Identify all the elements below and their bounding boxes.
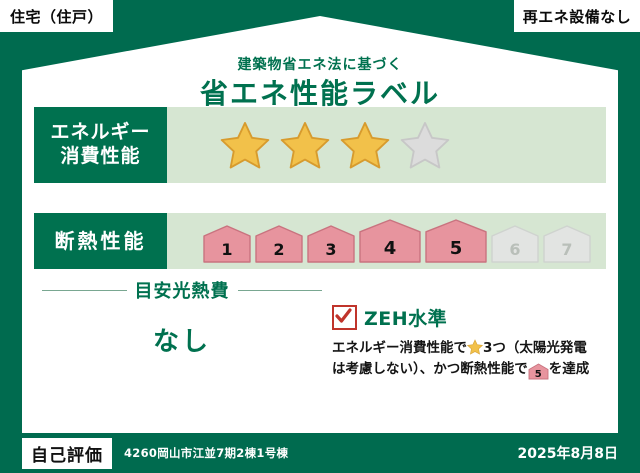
label-subtitle: 建築物省エネ法に基づく <box>22 54 618 74</box>
insulation-performance-label: 断熱性能 <box>34 213 167 269</box>
insulation-level-5: 5 <box>424 218 488 264</box>
zeh-desc-part3: を達成 <box>549 361 590 377</box>
insulation-level-1: 1 <box>202 224 252 264</box>
utility-cost-value: なし <box>42 321 322 358</box>
label-title: 省エネ性能ラベル <box>22 72 618 112</box>
divider-line-left <box>42 290 127 291</box>
insulation-performance-label-text: 断熱性能 <box>55 229 147 254</box>
insulation-level-scale: 1234567 <box>167 218 594 264</box>
zeh-desc-part1: エネルギー消費性能で <box>332 340 467 356</box>
insulation-level-value: 7 <box>561 240 572 264</box>
footer-bar: 自己評価 4260岡山市江並7期2棟1号棟 2025年8月8日 <box>0 433 640 473</box>
insulation-level-value: 4 <box>384 238 397 264</box>
insulation-level-value: 6 <box>509 240 520 264</box>
energy-performance-body <box>167 107 606 183</box>
insulation-level-value: 1 <box>221 240 232 264</box>
energy-performance-label-line1: エネルギー <box>50 121 150 145</box>
self-evaluation-badge: 自己評価 <box>22 438 112 469</box>
insulation-level-6: 6 <box>490 224 540 264</box>
energy-performance-row: エネルギー 消費性能 <box>34 107 606 183</box>
issue-date: 2025年8月8日 <box>518 443 618 463</box>
insulation-performance-row: 断熱性能 1234567 <box>34 213 606 269</box>
utility-cost-heading: 目安光熱費 <box>127 277 238 303</box>
label-panel-inner: 建築物省エネ法に基づく 省エネ性能ラベル エネルギー 消費性能 断熱性能 123… <box>22 16 618 433</box>
label-root: 建築物省エネ法に基づく 省エネ性能ラベル エネルギー 消費性能 断熱性能 123… <box>0 0 640 473</box>
zeh-description: エネルギー消費性能で 3つ（太陽光発電 は考慮しない）、かつ断熱性能で 5 を達… <box>332 338 604 380</box>
inline-insulation-badge: 5 <box>528 363 549 380</box>
insulation-level-value: 5 <box>450 238 463 264</box>
insulation-level-2: 2 <box>254 224 304 264</box>
zeh-desc-part2: は考慮しない）、かつ断熱性能で <box>332 361 528 377</box>
star-filled-icon <box>339 120 391 170</box>
insulation-level-7: 7 <box>542 224 592 264</box>
zeh-title: ZEH水準 <box>364 304 447 331</box>
zeh-desc-star-count: 3つ（太陽光発電 <box>483 340 587 356</box>
badge-housing-type: 住宅（住戸） <box>0 0 113 32</box>
zeh-checkbox-checked-icon <box>332 305 357 330</box>
energy-performance-label: エネルギー 消費性能 <box>34 107 167 183</box>
inline-star-icon <box>467 339 483 355</box>
insulation-level-value: 3 <box>325 240 336 264</box>
zeh-header: ZEH水準 <box>332 304 604 331</box>
insulation-level-4: 4 <box>358 218 422 264</box>
utility-cost-divider: 目安光熱費 <box>42 278 322 302</box>
star-filled-icon <box>279 120 331 170</box>
zeh-block: ZEH水準 エネルギー消費性能で 3つ（太陽光発電 は考慮しない）、かつ断熱性能… <box>332 304 604 380</box>
property-address: 4260岡山市江並7期2棟1号棟 <box>124 445 288 461</box>
star-rating <box>167 120 451 170</box>
inline-insulation-badge-value: 5 <box>535 369 542 380</box>
badge-renewable-energy: 再エネ設備なし <box>514 0 640 32</box>
insulation-level-value: 2 <box>273 240 284 264</box>
star-empty-icon <box>399 120 451 170</box>
energy-performance-label-line2: 消費性能 <box>60 145 140 169</box>
insulation-level-3: 3 <box>306 224 356 264</box>
label-panel: 建築物省エネ法に基づく 省エネ性能ラベル エネルギー 消費性能 断熱性能 123… <box>22 16 618 433</box>
divider-line-right <box>238 290 323 291</box>
insulation-performance-body: 1234567 <box>167 213 606 269</box>
star-filled-icon <box>219 120 271 170</box>
